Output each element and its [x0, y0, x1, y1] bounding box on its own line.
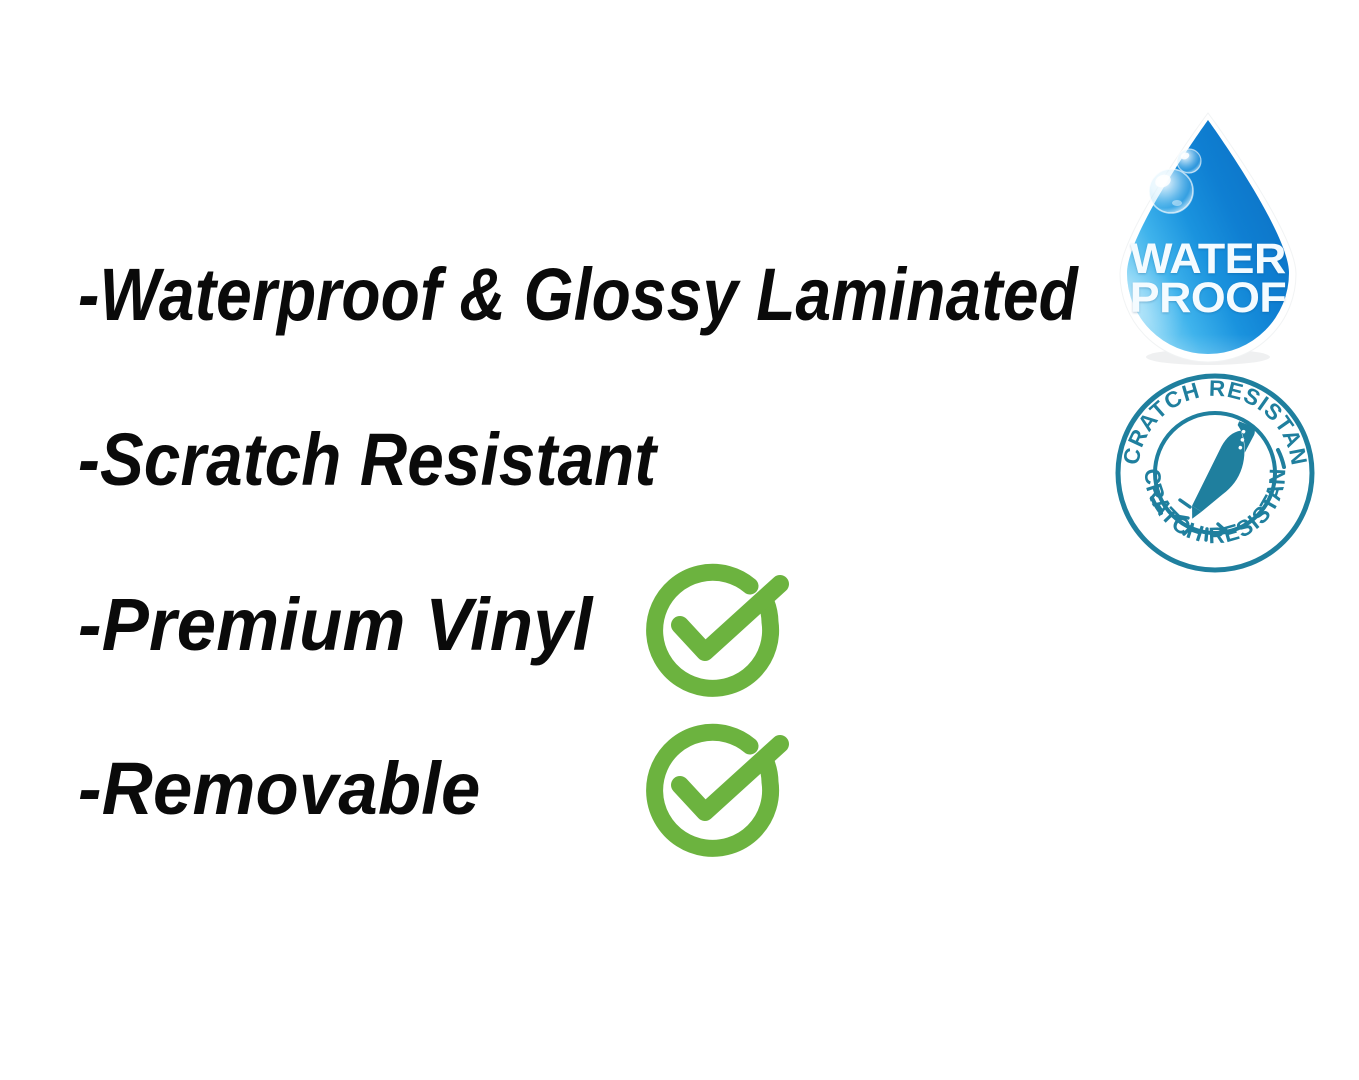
feature-item-waterproof-glossy-laminated: -Waterproof & Glossy Laminated [78, 258, 1078, 332]
promo-feature-panel: -Waterproof & Glossy Laminated -Scratch … [0, 0, 1359, 1080]
bubble-large-icon [1149, 169, 1193, 213]
feature-item-scratch-resistant: -Scratch Resistant [78, 423, 656, 497]
feature-item-premium-vinyl: -Premium Vinyl [78, 588, 593, 662]
bubble-small-icon [1177, 149, 1201, 173]
check-circle-icon [632, 542, 792, 702]
water-drop-icon [1113, 110, 1303, 368]
feature-item-removable: -Removable [78, 752, 481, 826]
check-circle-premium-vinyl [632, 542, 792, 702]
scratch-resistant-stamp-icon: SCRATCH RESISTANT SCRATCH RESISTANT [1114, 372, 1316, 574]
waterproof-badge: WATER PROOF [1113, 110, 1303, 368]
feature-list: -Waterproof & Glossy Laminated -Scratch … [0, 0, 1100, 1080]
check-circle-removable [632, 702, 792, 862]
check-circle-icon [632, 702, 792, 862]
check-circle-ring [655, 732, 771, 848]
scratch-resistant-badge: SCRATCH RESISTANT SCRATCH RESISTANT [1114, 372, 1316, 574]
check-circle-ring [655, 572, 771, 688]
stamp-text-top: SCRATCH RESISTANT [1114, 372, 1312, 468]
